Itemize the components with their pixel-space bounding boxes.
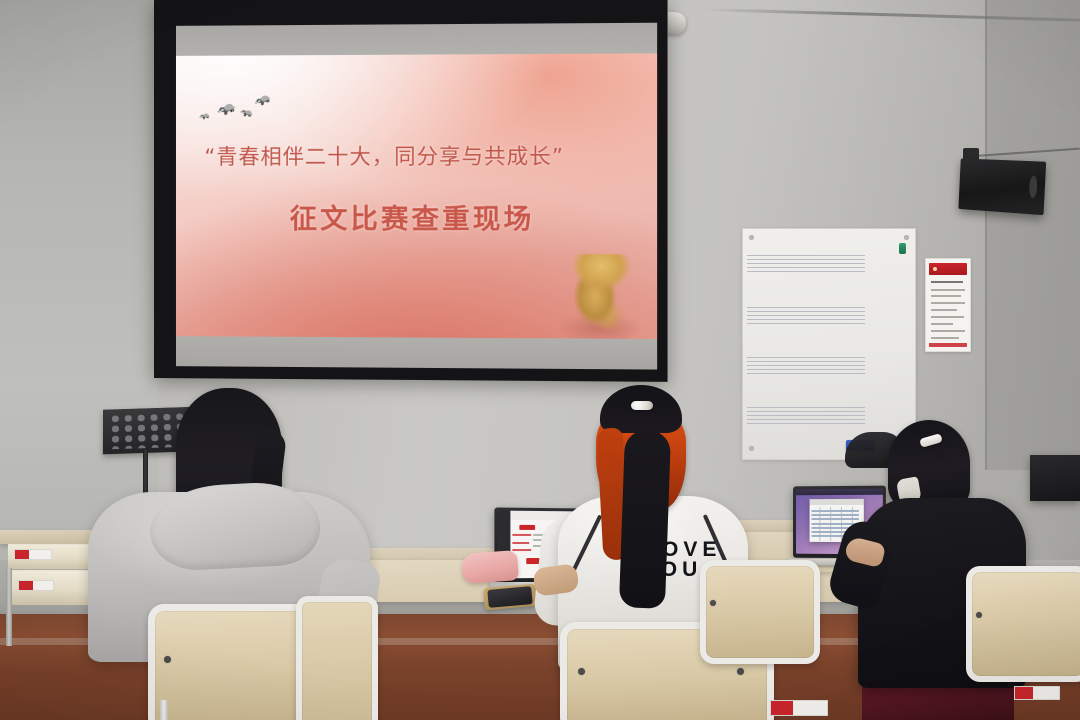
smartphone[interactable] [483,584,537,610]
chair-right[interactable] [966,566,1078,670]
pink-pencil-pouch[interactable] [461,550,519,584]
lion-statue-icon [569,254,633,330]
poster-body-line [931,302,965,304]
board-screw [749,446,754,451]
web-text-line [512,534,531,536]
classroom-photo: 🦡 🦡 🦡 🦡 “青春相伴二十大，同分享与共成长” 征文比赛查重现场 [0,0,1080,720]
wall-seam [985,0,987,470]
presentation-slide: 🦡 🦡 🦡 🦡 “青春相伴二十大，同分享与共成长” 征文比赛查重现场 [176,53,657,341]
staff-group [747,255,865,275]
poster-footer-bar [929,343,967,347]
wall-notice-poster [925,258,971,352]
poster-body-line [931,337,959,339]
bird-icon: 🦡 [198,110,211,121]
poster-body-line [931,330,965,332]
screen-bottom-band [176,336,657,369]
poster-body-line [931,295,961,297]
slide-headline: “青春相伴二十大，同分享与共成长” [204,140,637,171]
poster-body-line [931,309,957,311]
web-primary-button[interactable] [520,525,535,530]
staff-group [747,307,865,327]
board-screw [904,235,909,240]
spreadsheet-row [812,514,859,516]
poster-body-line [931,316,964,318]
spreadsheet-row [812,518,859,520]
chair-center-back[interactable] [700,560,808,652]
bird-icon: 🦡 [214,97,238,119]
hair-clip-icon [631,401,653,410]
poster-title-line [931,281,963,283]
poster-body-line [931,323,953,325]
desk-label [18,580,54,591]
poster-header-banner [929,263,967,275]
spreadsheet-row [812,535,844,537]
spreadsheet-toolbar [810,499,864,505]
web-text-line [512,549,531,551]
staff-group [747,407,865,427]
music-staff-whiteboard [742,228,916,460]
board-screw [749,235,754,240]
chair-left-post [160,700,168,720]
slide-subtitle: 征文比赛查重现场 [290,197,657,237]
desk-label [770,700,828,716]
desktop-taskbar [796,489,883,495]
desk-leg [6,568,12,646]
staff-group [747,357,865,377]
desk-label [1014,686,1060,700]
bird-icon: 🦡 [252,88,274,108]
green-marker-icon[interactable] [899,243,906,254]
screen-top-band [176,23,657,58]
web-text-line [512,542,529,544]
spreadsheet-row [812,510,859,512]
student-center-ponytail [619,429,671,608]
piano-icon [1030,455,1080,501]
desk-label [14,549,52,560]
bird-icon: 🦡 [240,106,255,119]
poster-body-line [931,289,965,291]
birds-decoration: 🦡 🦡 🦡 🦡 [195,80,386,143]
projector-screen: 🦡 🦡 🦡 🦡 “青春相伴二十大，同分享与共成长” 征文比赛查重现场 [154,0,668,382]
chair-left-far[interactable] [296,596,366,720]
right-wall-panel [985,0,1080,470]
wall-speaker-icon [958,158,1046,215]
